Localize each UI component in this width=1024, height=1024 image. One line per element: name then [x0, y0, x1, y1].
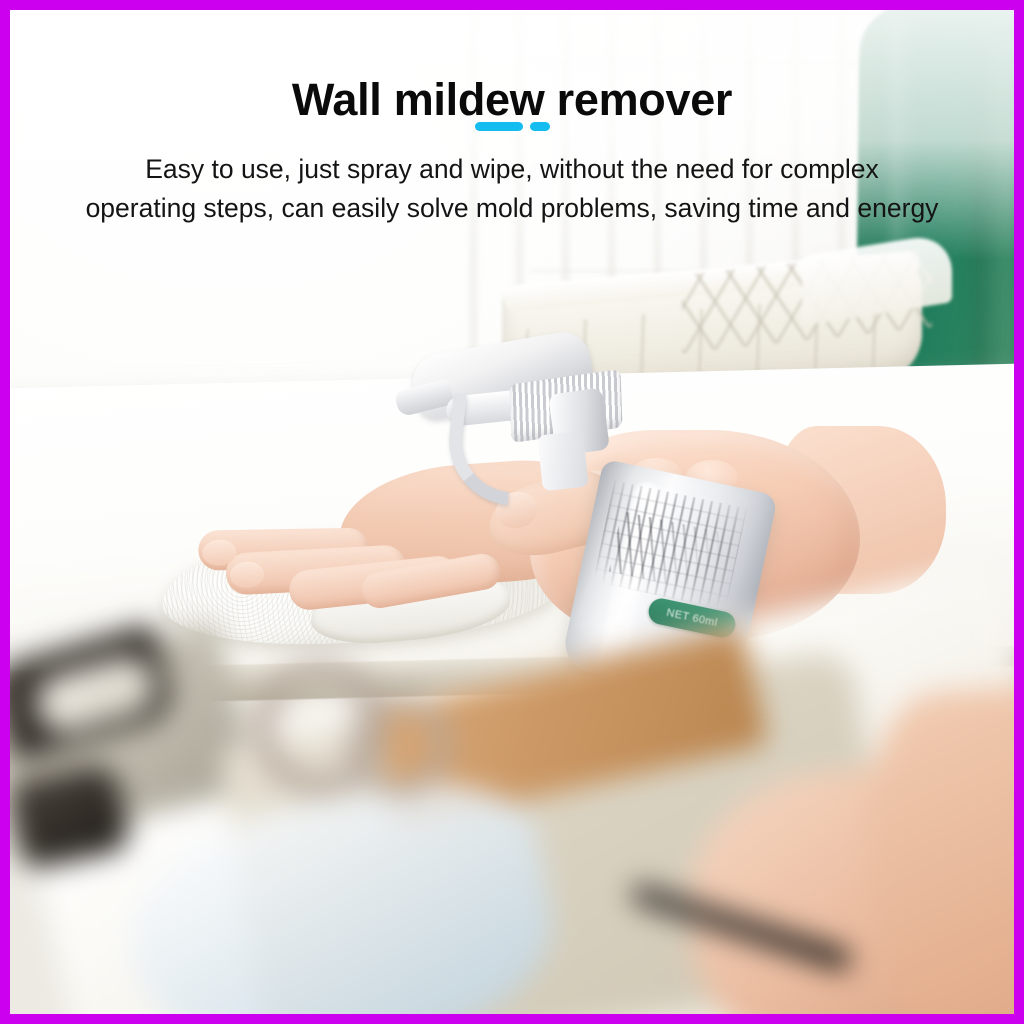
title-divider: [10, 122, 1014, 131]
divider-dash-short: [530, 122, 550, 131]
page-title: Wall mildew remover: [10, 76, 1014, 124]
subtitle-line-2: operating steps, can easily solve mold p…: [30, 189, 994, 228]
divider-dash-long: [475, 122, 523, 131]
product-poster: NET 60ml Wall mi: [0, 0, 1024, 1024]
subtitle: Easy to use, just spray and wipe, withou…: [30, 150, 994, 228]
bottle-neck: [537, 431, 589, 492]
blurred-foreground: [10, 650, 1014, 1014]
bottle-net-volume-text: NET 60ml: [665, 607, 718, 630]
trigger-hook: [443, 394, 519, 505]
subtitle-line-1: Easy to use, just spray and wipe, withou…: [30, 150, 994, 189]
poster-inner-frame: NET 60ml Wall mi: [10, 10, 1014, 1014]
